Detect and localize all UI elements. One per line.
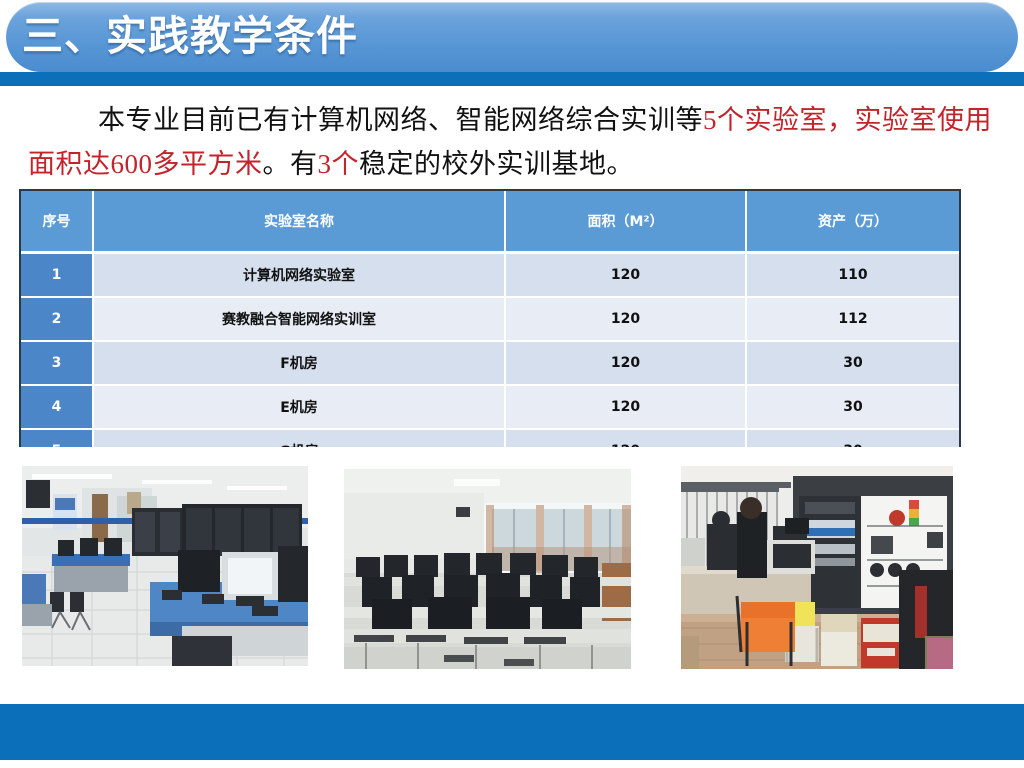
cell-name: 赛教融合智能网络实训室 <box>93 297 505 341</box>
table-row: 3 F机房 120 30 <box>21 341 959 385</box>
cell-index: 2 <box>21 297 93 341</box>
cell-index: 4 <box>21 385 93 429</box>
paragraph-segment-4: 3个 <box>318 149 360 179</box>
cell-area: 120 <box>505 385 746 429</box>
cell-index: 3 <box>21 341 93 385</box>
cell-index: 5 <box>21 429 93 447</box>
computer-classroom-photo <box>344 469 631 669</box>
cell-name: G机房 <box>93 429 505 447</box>
cell-asset: 30 <box>746 341 959 385</box>
slide-header: 三、实践教学条件 <box>0 0 1024 84</box>
table-row: 2 赛教融合智能网络实训室 120 112 <box>21 297 959 341</box>
cell-index: 1 <box>21 253 93 298</box>
intro-paragraph: 本专业目前已有计算机网络、智能网络综合实训等5个实验室，实验室使用面积达600多… <box>28 98 1003 186</box>
cell-asset: 112 <box>746 297 959 341</box>
photo-strip <box>0 466 1024 671</box>
header-accent-strip <box>0 72 1024 86</box>
lab-table-container: 序号 实验室名称 面积（M²） 资产（万） 1 计算机网络实验室 120 110… <box>19 189 961 447</box>
column-header-area: 面积（M²） <box>505 191 746 253</box>
column-header-asset: 资产（万） <box>746 191 959 253</box>
cell-area: 120 <box>505 429 746 447</box>
column-header-name: 实验室名称 <box>93 191 505 253</box>
table-row: 4 E机房 120 30 <box>21 385 959 429</box>
cell-asset: 30 <box>746 385 959 429</box>
table-row: 1 计算机网络实验室 120 110 <box>21 253 959 298</box>
training-equipment-photo <box>681 466 953 669</box>
cell-asset: 110 <box>746 253 959 298</box>
cell-name: F机房 <box>93 341 505 385</box>
cell-area: 120 <box>505 297 746 341</box>
cell-asset: 30 <box>746 429 959 447</box>
cell-area: 120 <box>505 341 746 385</box>
table-header-row: 序号 实验室名称 面积（M²） 资产（万） <box>21 191 959 253</box>
footer-edge <box>0 760 1024 768</box>
lab-table: 序号 实验室名称 面积（M²） 资产（万） 1 计算机网络实验室 120 110… <box>21 191 959 447</box>
footer-bar <box>0 704 1024 762</box>
paragraph-segment-5: 稳定的校外实训基地。 <box>359 149 634 179</box>
paragraph-segment-1: 本专业目前已有计算机网络、智能网络综合实训等 <box>98 105 703 135</box>
network-lab-photo <box>22 466 308 666</box>
cell-area: 120 <box>505 253 746 298</box>
column-header-index: 序号 <box>21 191 93 253</box>
page-title: 三、实践教学条件 <box>22 4 358 68</box>
cell-name: E机房 <box>93 385 505 429</box>
paragraph-segment-3: 。有 <box>263 149 318 179</box>
slide-root: 三、实践教学条件 本专业目前已有计算机网络、智能网络综合实训等5个实验室，实验室… <box>0 0 1024 768</box>
cell-name: 计算机网络实验室 <box>93 253 505 298</box>
table-row: 5 G机房 120 30 <box>21 429 959 447</box>
